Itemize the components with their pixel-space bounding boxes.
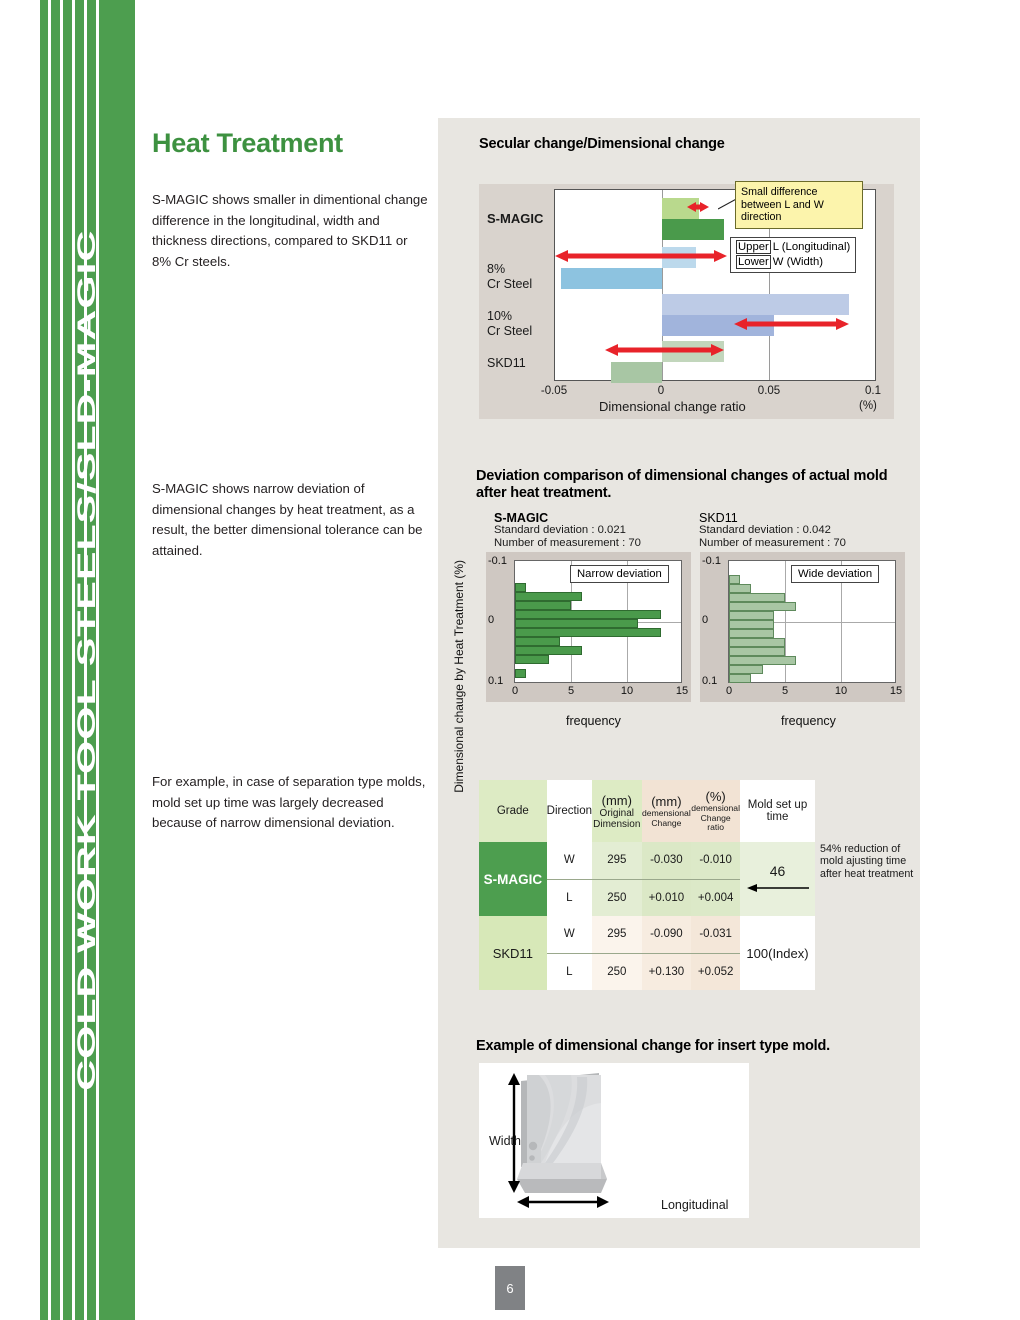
histogram-skd11: -0.1 0 0.1 Wide deviation 0 5 10 15 xyxy=(700,552,905,702)
table-header-row: Grade Direction (mm) Original Dimension … xyxy=(479,780,815,842)
section2-title: Deviation comparison of dimensional chan… xyxy=(476,468,901,502)
cell-mold-time-value: 46 xyxy=(770,863,786,879)
hist-left-bar xyxy=(515,592,582,601)
hist-right-bar xyxy=(729,593,785,602)
cell-ratio: +0.004 xyxy=(691,879,740,916)
cell-original: 250 xyxy=(592,879,641,916)
hist-right-bar xyxy=(729,674,751,683)
hist-left-plot-area: Narrow deviation xyxy=(514,560,682,683)
hist-right-bar xyxy=(729,602,796,611)
cell-grade-s-magic: S-MAGIC xyxy=(479,842,547,916)
hist-right-xtick-15: 15 xyxy=(883,685,909,697)
mold-label-longitudinal: Longitudinal xyxy=(661,1198,728,1212)
hist-right-bar xyxy=(729,656,796,665)
chart1-category-8cr: 8%Cr Steel xyxy=(487,262,532,291)
hist-right-plot-area: Wide deviation xyxy=(728,560,896,683)
chart1-xtick-0.1: 0.1 xyxy=(848,385,898,397)
cell-mold-time: 46 xyxy=(740,842,815,916)
hist-y-axis-label-text: Dimensional chauge by Heat Treatment (%) xyxy=(452,560,466,793)
cell-original: 250 xyxy=(592,953,641,990)
hist-right-bar xyxy=(729,665,763,674)
th-grade: Grade xyxy=(479,780,547,842)
hist-left-n-meas: Number of measurement : 70 xyxy=(494,537,641,550)
hist-left-grade: S-MAGIC xyxy=(494,511,548,525)
hist-left-badge: Narrow deviation xyxy=(570,565,669,583)
hist-right-bar xyxy=(729,629,774,638)
table-row: S-MAGIC W 295 -0.030 -0.010 46 xyxy=(479,842,815,879)
hist-y-axis-label: Dimensional chauge by Heat Treatment (%) xyxy=(452,560,472,700)
chart1-bar-s-magic-W xyxy=(662,219,724,240)
hist-left-xtick-5: 5 xyxy=(558,685,584,697)
body-paragraph-2: S-MAGIC shows narrow deviation of dimens… xyxy=(152,479,430,561)
th-direction: Direction xyxy=(547,780,592,842)
cell-direction: L xyxy=(547,953,592,990)
hist-right-ytick-0.1: 0.1 xyxy=(702,675,717,687)
cell-direction: L xyxy=(547,879,592,916)
hist-left-ytick-0.1: 0.1 xyxy=(488,675,503,687)
body-paragraph-1: S-MAGIC shows smaller in dimentional cha… xyxy=(152,190,430,272)
chart1-legend-upper-tag: Upper xyxy=(736,240,771,254)
th-original-dimension: (mm) Original Dimension xyxy=(592,780,641,842)
chart1-x-axis-unit: (%) xyxy=(859,400,877,412)
hist-left-bar xyxy=(515,583,526,592)
cell-original: 295 xyxy=(592,842,641,879)
hist-left-xtick-10: 10 xyxy=(614,685,640,697)
chart1-bar-8cr-W xyxy=(561,268,662,289)
th-dimensional-change-unit: (mm) xyxy=(642,794,692,809)
page-number: 6 xyxy=(495,1266,525,1310)
hist-right-xtick-5: 5 xyxy=(772,685,798,697)
cell-ratio: -0.031 xyxy=(691,916,740,953)
hist-right-xtick-10: 10 xyxy=(828,685,854,697)
hist-left-bar xyxy=(515,628,661,637)
hist-right-bar xyxy=(729,647,785,656)
section1-title: Secular change/Dimensional change xyxy=(479,136,899,153)
chart1-x-axis-label: Dimensional change ratio xyxy=(599,399,746,414)
th-change-ratio-unit: (%) xyxy=(691,789,740,804)
chart1-category-s-magic: S-MAGIC xyxy=(487,212,543,227)
hist-right-xtick-0: 0 xyxy=(716,685,742,697)
hist-right-ytick-0: 0 xyxy=(702,614,708,626)
chart1-small-diff-arrow xyxy=(687,199,709,215)
hist-right-n-meas: Number of measurement : 70 xyxy=(699,537,846,550)
th-change-ratio: (%) demensional Change ratio xyxy=(691,780,740,842)
cell-change: -0.090 xyxy=(642,916,692,953)
chart1-xtick-0.05: 0.05 xyxy=(744,385,794,397)
hist-right-bar xyxy=(729,611,774,620)
hist-left-xtick-15: 15 xyxy=(669,685,695,697)
chart1-legend-lower-tag: Lower xyxy=(736,255,771,269)
cell-original: 295 xyxy=(592,916,641,953)
dimension-data-table: Grade Direction (mm) Original Dimension … xyxy=(479,780,815,990)
hist-left-bar xyxy=(515,619,638,628)
chart1-bar-skd11-W xyxy=(611,362,662,383)
page-title: Heat Treatment xyxy=(152,128,343,159)
hist-left-xtick-0: 0 xyxy=(502,685,528,697)
hist-right-badge: Wide deviation xyxy=(791,565,879,583)
mold-time-arrow-icon xyxy=(747,883,809,893)
table-row: SKD11 W 295 -0.090 -0.031 100(Index) xyxy=(479,916,815,953)
chart1-range-arrow-8cr xyxy=(555,248,730,264)
hist-left-bar xyxy=(515,601,571,610)
cell-mold-time: 100(Index) xyxy=(740,916,815,990)
dimension-data-table-wrap: Grade Direction (mm) Original Dimension … xyxy=(479,780,815,988)
th-dimensional-change: (mm) demensional Change xyxy=(642,780,692,842)
chart1-category-skd11: SKD11 xyxy=(487,356,526,371)
chart1-legend-upper: UpperL (Longitudinal) xyxy=(736,240,850,255)
cell-grade-skd11: SKD11 xyxy=(479,916,547,990)
th-dimensional-change-text: demensional Change xyxy=(642,809,692,828)
chart1-callout-small-difference: Small difference between L and W directi… xyxy=(735,181,863,229)
hist-left-ytick-0: 0 xyxy=(488,614,494,626)
hist-right-x-axis-title: frequency xyxy=(781,714,836,728)
hist-right-bar xyxy=(729,575,740,584)
hist-right-bar xyxy=(729,584,751,593)
hist-right-bar xyxy=(729,620,774,629)
chart1-category-10cr: 10%Cr Steel xyxy=(487,309,532,338)
hist-left-bar xyxy=(515,610,661,619)
hist-left-bar xyxy=(515,669,526,678)
cell-change: +0.010 xyxy=(642,879,692,916)
chart1-range-arrow-skd11 xyxy=(605,342,727,358)
th-original-dimension-unit: (mm) xyxy=(592,793,641,808)
chart1-legend-upper-text: L (Longitudinal) xyxy=(773,241,850,253)
hist-right-bar xyxy=(729,638,785,647)
chart1-bar-10cr-L xyxy=(662,294,849,315)
sidebar-vertical-title: COLD WORK TOOL STEELS/SLD-MAGIC xyxy=(40,0,135,1320)
table-reduction-note: 54% reduction of mold ajusting time afte… xyxy=(820,843,916,880)
hist-left-bar xyxy=(515,646,582,655)
chart1-range-arrow-10cr xyxy=(734,316,852,332)
chart1-legend: UpperL (Longitudinal) LowerW (Width) xyxy=(730,237,856,273)
cell-ratio: -0.010 xyxy=(691,842,740,879)
chart1-legend-lower: LowerW (Width) xyxy=(736,255,850,270)
cell-direction: W xyxy=(547,916,592,953)
hist-right-std-dev: Standard deviation : 0.042 xyxy=(699,524,831,537)
hist-left-bar xyxy=(515,637,560,646)
hist-right-ytick--0.1: -0.1 xyxy=(702,555,721,567)
hist-left-x-axis-title: frequency xyxy=(566,714,621,728)
sidebar-vertical-title-text: COLD WORK TOOL STEELS/SLD-MAGIC xyxy=(73,229,102,1090)
chart1-xtick-0: 0 xyxy=(636,385,686,397)
th-change-ratio-text: demensional Change ratio xyxy=(691,804,740,833)
section4-title: Example of dimensional change for insert… xyxy=(476,1038,830,1055)
th-original-dimension-text: Original Dimension xyxy=(592,808,641,830)
histogram-s-magic: -0.1 0 0.1 Narrow deviation 0 5 10 15 xyxy=(486,552,691,702)
cell-direction: W xyxy=(547,842,592,879)
hist-right-grade: SKD11 xyxy=(699,511,738,525)
hist-left-ytick--0.1: -0.1 xyxy=(488,555,507,567)
hist-left-bar xyxy=(515,655,549,664)
th-mold-set-up-time: Mold set up time xyxy=(740,780,815,842)
cell-ratio: +0.052 xyxy=(691,953,740,990)
chart1-legend-lower-text: W (Width) xyxy=(773,256,823,268)
body-paragraph-3: For example, in case of separation type … xyxy=(152,772,430,834)
mold-label-width: Width xyxy=(489,1134,521,1148)
chart1-xtick--0.05: -0.05 xyxy=(529,385,579,397)
cell-change: +0.130 xyxy=(642,953,692,990)
cell-change: -0.030 xyxy=(642,842,692,879)
hist-left-std-dev: Standard deviation : 0.021 xyxy=(494,524,626,537)
